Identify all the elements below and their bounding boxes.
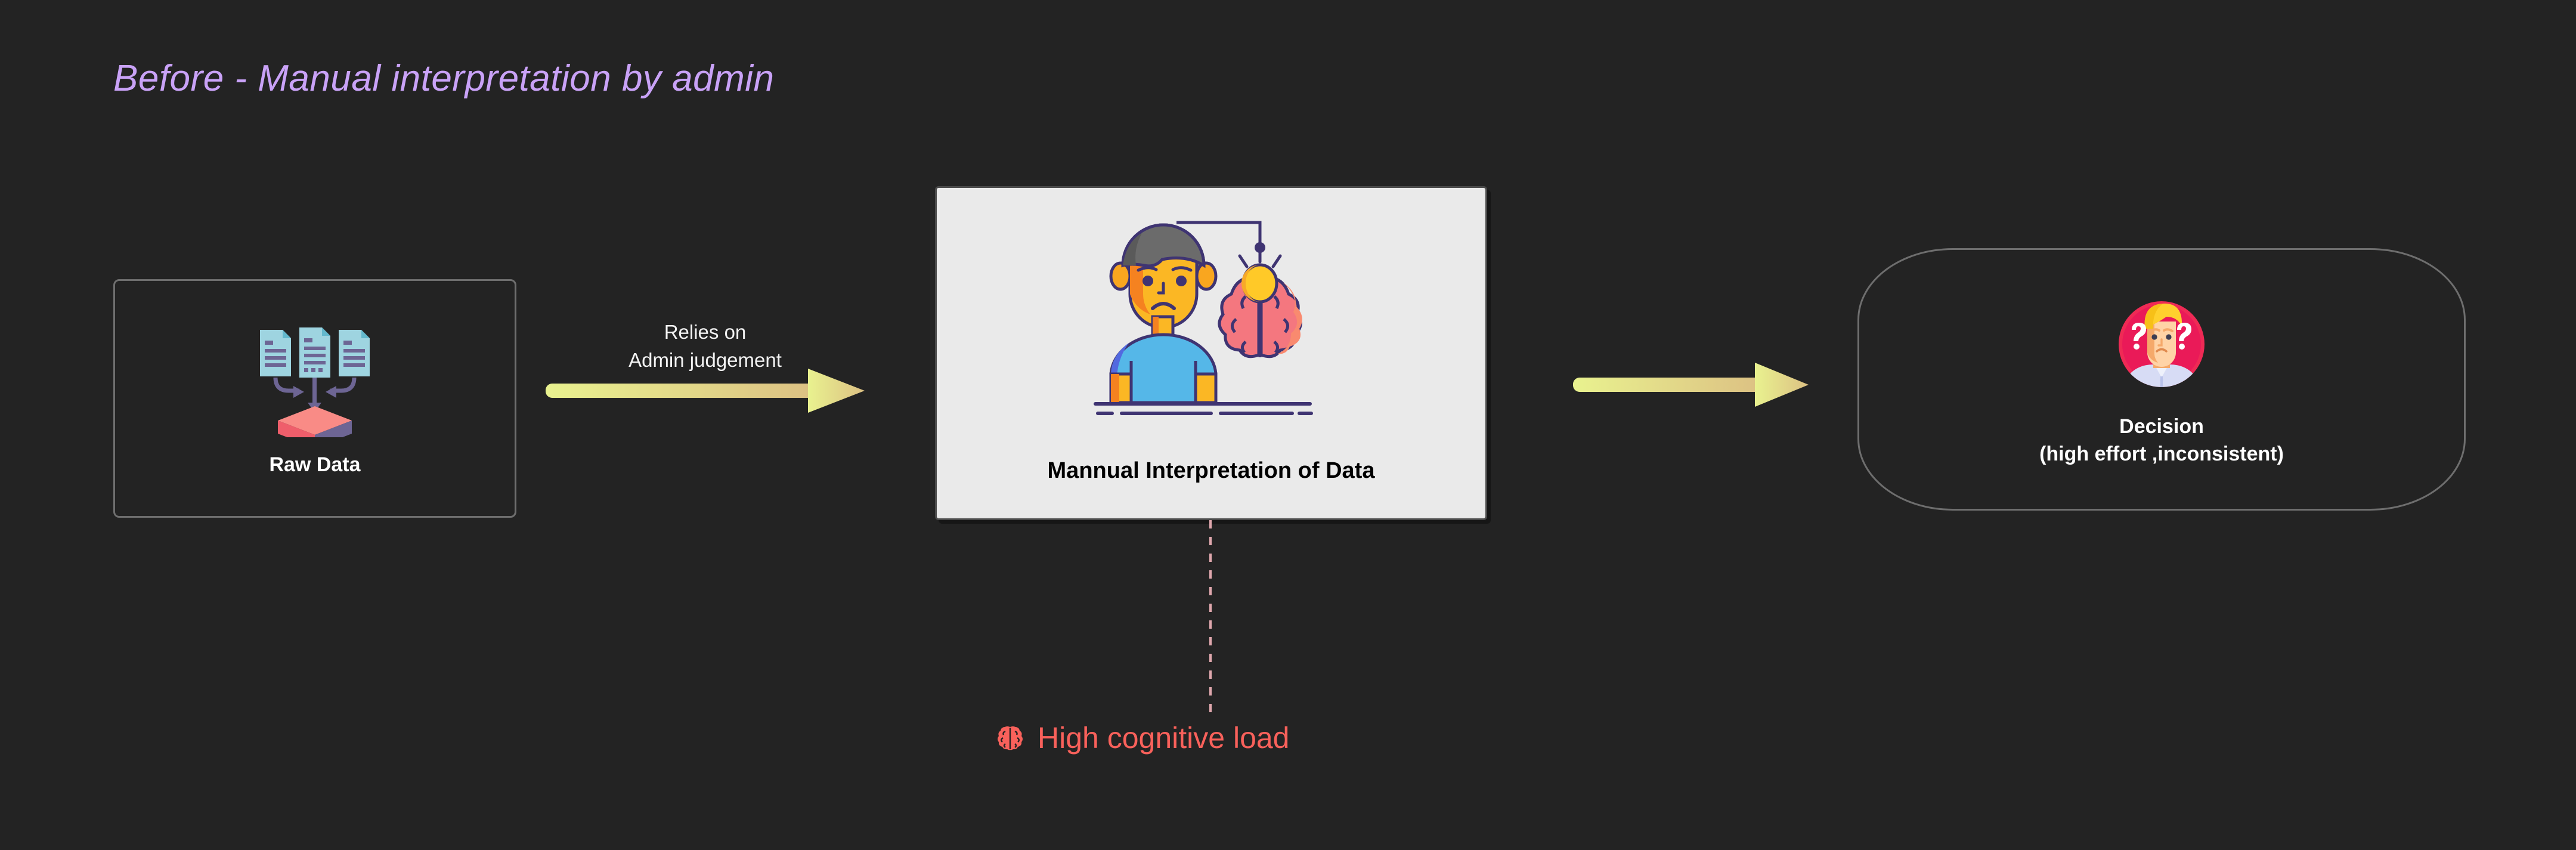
node-decision[interactable]: Decision (high effort ,inconsistent): [1857, 248, 2466, 511]
node-decision-label-line1: Decision: [1859, 413, 2464, 441]
confused-person-avatar-icon: [2114, 296, 2209, 392]
annotation-high-cognitive-load: High cognitive load: [996, 721, 1290, 755]
brain-icon: [996, 724, 1024, 752]
node-decision-label-line2: (high effort ,inconsistent): [1859, 441, 2464, 468]
right-arrow-icon-manual-to-decision: [1573, 358, 1809, 412]
dashed-vertical-connector: [1209, 520, 1212, 712]
documents-into-box-icon: [249, 324, 380, 437]
edge-label-line1: Relies on: [546, 319, 865, 347]
node-raw-data[interactable]: Raw Data: [113, 279, 516, 518]
annotation-high-cognitive-load-text: High cognitive load: [1038, 721, 1290, 755]
node-decision-label: Decision (high effort ,inconsistent): [1859, 413, 2464, 468]
page-title: Before - Manual interpretation by admin: [113, 57, 775, 100]
node-raw-data-label: Raw Data: [115, 452, 515, 479]
sad-person-with-brain-icon: [1086, 206, 1336, 421]
node-manual-interpretation[interactable]: Mannual Interpretation of Data: [935, 186, 1487, 520]
right-arrow-icon-raw-to-manual: [546, 364, 865, 418]
node-manual-interpretation-label: Mannual Interpretation of Data: [937, 456, 1485, 486]
